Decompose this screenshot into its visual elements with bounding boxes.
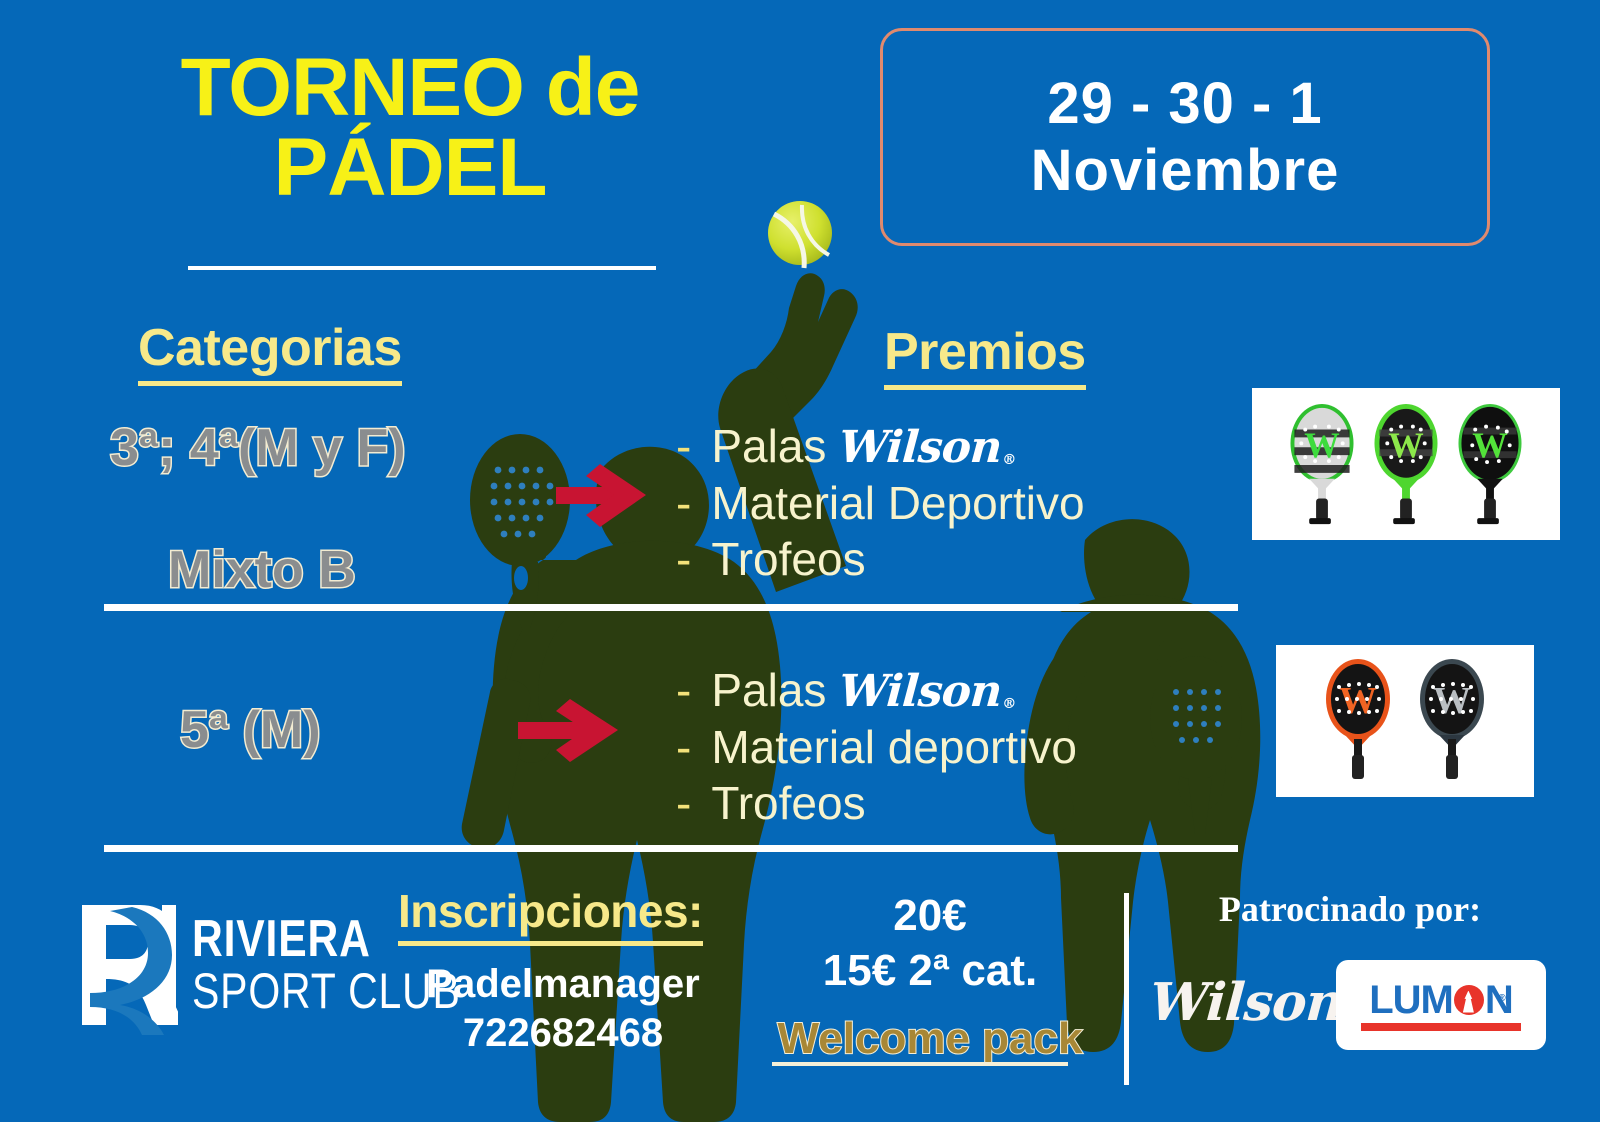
racket-image-5: W	[1408, 655, 1496, 787]
racket-image-3: W	[1451, 400, 1529, 530]
date-text: 29 - 30 - 1 Noviembre	[1031, 70, 1340, 205]
bullet-dash: -	[676, 531, 691, 587]
price-primary: 20€	[760, 888, 1100, 943]
lumon-sponsor-logo: LUM N ®	[1336, 960, 1546, 1050]
wilson-wordmark: Wilson®	[1148, 972, 1360, 1033]
category-item-1: 3ª; 4ª(M y F)	[110, 418, 406, 478]
section-divider-2	[104, 845, 1238, 852]
registration-contact: Padelmanager 722682468	[398, 960, 728, 1058]
lumon-wordmark: LUM N ®	[1369, 980, 1513, 1020]
prize-text: Trofeos	[711, 531, 865, 587]
prize-text: Palas Wilson®	[711, 662, 1016, 719]
bullet-dash: -	[676, 775, 691, 831]
registration-platform: Padelmanager	[398, 960, 728, 1009]
section-divider-1	[104, 604, 1238, 611]
svg-text:W: W	[1433, 680, 1471, 722]
registration-heading: Inscripciones:	[398, 884, 703, 938]
bullet-dash: -	[676, 662, 691, 718]
title-line-2: PÁDEL	[100, 128, 720, 208]
category-item-2: Mixto B	[168, 540, 356, 600]
list-item: - Material deportivo	[676, 719, 1077, 775]
prizes-heading: Premios	[884, 322, 1086, 382]
lumon-sun-icon	[1454, 985, 1484, 1015]
category-item-3: 5ª (M)	[180, 700, 321, 760]
list-item: - Material Deportivo	[676, 475, 1085, 531]
prizes-list-group-1: - Palas Wilson® - Material Deportivo - T…	[676, 418, 1085, 587]
welcome-pack-underline	[772, 1062, 1068, 1066]
date-line-2: Noviembre	[1031, 137, 1340, 204]
bullet-dash: -	[676, 475, 691, 531]
lumon-underline-bar	[1361, 1023, 1521, 1031]
bullet-dash: -	[676, 418, 691, 474]
categories-heading: Categorias	[138, 318, 402, 378]
svg-text:W: W	[1304, 425, 1339, 465]
title-line-1: TORNEO de	[100, 48, 720, 128]
racket-image-1: W	[1283, 400, 1361, 530]
prize-text: Trofeos	[711, 775, 865, 831]
list-item: - Palas Wilson®	[676, 418, 1085, 475]
date-line-1: 29 - 30 - 1	[1031, 70, 1340, 137]
list-item: - Palas Wilson®	[676, 662, 1077, 719]
wilson-logo: Wilson®	[837, 665, 1018, 719]
poster-content: TORNEO de PÁDEL 29 - 30 - 1 Noviembre Ca…	[0, 0, 1600, 1122]
lumon-text-left: LUM	[1369, 980, 1453, 1020]
prize-text: Palas Wilson®	[711, 418, 1016, 475]
page-title: TORNEO de PÁDEL	[100, 48, 720, 209]
svg-text:W: W	[1339, 680, 1377, 722]
bullet-dash: -	[676, 719, 691, 775]
list-item: - Trofeos	[676, 775, 1077, 831]
lumon-registered-mark: ®	[1498, 994, 1504, 1004]
prizes-list-group-2: - Palas Wilson® - Material deportivo - T…	[676, 662, 1077, 831]
racket-image-4: W	[1314, 655, 1402, 787]
date-badge: 29 - 30 - 1 Noviembre	[880, 28, 1490, 246]
racket-image-2: W	[1367, 400, 1445, 530]
riviera-mark-icon	[70, 895, 178, 1035]
registration-phone[interactable]: 722682468	[398, 1009, 728, 1058]
prize-text: Material Deportivo	[711, 475, 1084, 531]
sponsors-label: Patrocinado por:	[1160, 888, 1540, 930]
welcome-pack-label: Welcome pack	[760, 1014, 1100, 1064]
list-item: - Trofeos	[676, 531, 1085, 587]
pricing-block: 20€ 15€ 2ª cat.	[760, 888, 1100, 998]
title-divider	[188, 266, 656, 270]
svg-text:W: W	[1388, 425, 1423, 465]
prize-text: Material deportivo	[711, 719, 1077, 775]
racket-photo-panel-bottom: W W	[1276, 645, 1534, 797]
sponsor-divider	[1124, 893, 1129, 1085]
tournament-poster: TORNEO de PÁDEL 29 - 30 - 1 Noviembre Ca…	[0, 0, 1600, 1122]
racket-photo-panel-top: W W W	[1252, 388, 1560, 540]
wilson-sponsor-logo: Wilson®	[1150, 972, 1350, 1033]
price-secondary: 15€ 2ª cat.	[760, 943, 1100, 998]
wilson-logo: Wilson®	[837, 421, 1018, 475]
